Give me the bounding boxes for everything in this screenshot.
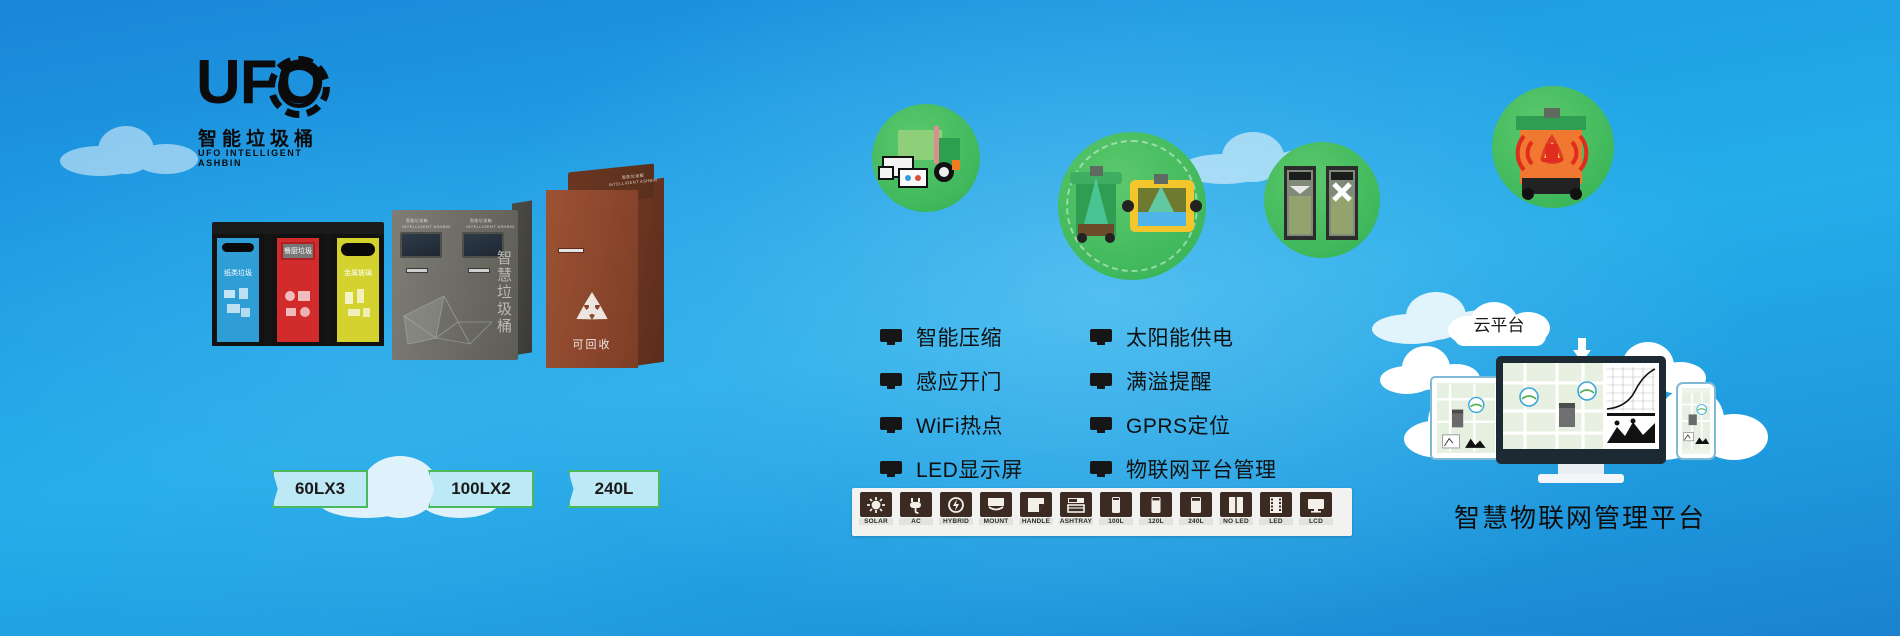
feature-label: LED显示屏 bbox=[916, 454, 1023, 484]
logo-english: UFO INTELLIGENT ASHBIN bbox=[198, 148, 346, 168]
feature-item: 感应开门 bbox=[880, 366, 1023, 396]
spec-icon-hybrid: HYBRID bbox=[938, 492, 974, 532]
logo-chinese: 智能垃圾桶 bbox=[198, 124, 318, 151]
bin-panel-caption-en: INTELLIGENT ASHBIN bbox=[402, 224, 451, 229]
bin-cell-kitchen: 餐厨垃圾 bbox=[272, 234, 324, 346]
feature-circle-fleet-monitoring bbox=[872, 104, 980, 212]
bin-panel: 纸类垃圾 bbox=[217, 238, 259, 342]
spec-icon-led: LED bbox=[1258, 492, 1294, 532]
spec-caption: 240L bbox=[1179, 518, 1213, 525]
monitor-bullet-icon bbox=[1090, 373, 1112, 389]
capacity-label: 100LX2 bbox=[451, 479, 511, 499]
spec-icon-100l: 100L bbox=[1098, 492, 1134, 532]
spec-icon-solar: SOLAR bbox=[858, 492, 894, 532]
spec-icon-ashtray: ASHTRAY bbox=[1058, 492, 1094, 532]
waste-category-icon bbox=[341, 284, 375, 324]
bin-cell-label: 金属玻璃 bbox=[337, 268, 379, 278]
monitor-bullet-icon bbox=[880, 461, 902, 477]
spec-icon-240l: 240L bbox=[1178, 492, 1214, 532]
spec-caption: HYBRID bbox=[939, 518, 973, 525]
bin-opening bbox=[222, 243, 254, 252]
bin-opening bbox=[341, 243, 375, 256]
monitor-base bbox=[1538, 474, 1624, 483]
no-led-icon bbox=[1226, 495, 1246, 515]
feature-item: 物联网平台管理 bbox=[1090, 454, 1277, 484]
led-icon bbox=[1266, 495, 1286, 515]
platform-caption: 智慧物联网管理平台 bbox=[1420, 498, 1740, 535]
triple-sorting-bin: 纸类垃圾 餐厨垃圾 bbox=[212, 222, 384, 352]
monitor-bullet-icon bbox=[1090, 417, 1112, 433]
hybrid-power-icon bbox=[946, 496, 966, 514]
bin-cell-label: 纸类垃圾 bbox=[217, 268, 259, 278]
bin-cell-paper: 纸类垃圾 bbox=[212, 234, 264, 346]
monitor-bullet-icon bbox=[880, 417, 902, 433]
spec-icon-no-led: NO LED bbox=[1218, 492, 1254, 532]
sun-icon bbox=[866, 496, 886, 514]
plug-icon bbox=[906, 496, 926, 514]
bin-120l-icon bbox=[1148, 495, 1164, 515]
monitor-screen bbox=[1503, 363, 1659, 449]
feature-item: 满溢提醒 bbox=[1090, 366, 1277, 396]
feature-label: 满溢提醒 bbox=[1126, 366, 1212, 396]
tablet-device bbox=[1430, 376, 1502, 460]
bin-body: 可回收 bbox=[546, 190, 638, 368]
feature-item: 智能压缩 bbox=[880, 322, 1023, 352]
feature-item: GPRS定位 bbox=[1090, 410, 1277, 440]
spec-icon-mount: MOUNT bbox=[978, 492, 1014, 532]
feature-label: 物联网平台管理 bbox=[1126, 454, 1277, 484]
spec-caption: HANDLE bbox=[1019, 518, 1053, 525]
fleet-monitoring-icon bbox=[872, 104, 980, 212]
bin-panel: 餐厨垃圾 bbox=[277, 238, 319, 342]
bin-label: 可回收 bbox=[546, 336, 638, 352]
spec-caption: LED bbox=[1259, 518, 1293, 525]
waste-category-icon bbox=[221, 284, 255, 324]
fill-level-sensor-icon bbox=[1058, 132, 1206, 280]
gear-ring-inner-icon bbox=[278, 66, 320, 108]
feature-label: 感应开门 bbox=[916, 366, 1002, 396]
spec-icon-120l: 120L bbox=[1138, 492, 1174, 532]
spec-icon-handle: HANDLE bbox=[1018, 492, 1054, 532]
feature-circle-fill-level bbox=[1058, 132, 1206, 280]
bin-cell-metal-glass: 金属玻璃 bbox=[332, 234, 384, 346]
cloud-decoration bbox=[60, 120, 210, 180]
monitor-bullet-icon bbox=[1090, 329, 1112, 345]
cloud-platform-label: 云平台 bbox=[1448, 300, 1550, 346]
spec-caption: NO LED bbox=[1219, 518, 1253, 525]
iot-dashboard-illustration bbox=[1430, 348, 1730, 488]
banner-canvas: UFO 智能垃圾桶 UFO INTELLIGENT ASHBIN 纸类垃圾 bbox=[0, 0, 1900, 636]
monitor-bullet-icon bbox=[880, 329, 902, 345]
mount-icon bbox=[985, 496, 1007, 514]
bin-panel: 金属玻璃 bbox=[337, 238, 379, 342]
capacity-ribbon-100l: 100LX2 bbox=[428, 470, 534, 508]
feature-column-left: 智能压缩 感应开门 WiFi热点 LED显示屏 bbox=[880, 322, 1023, 498]
feature-label: 智能压缩 bbox=[916, 322, 1002, 352]
capacity-label: 240L bbox=[595, 479, 634, 499]
spec-caption: 120L bbox=[1139, 518, 1173, 525]
capacity-ribbon-240l: 240L bbox=[568, 470, 660, 508]
ashtray-icon bbox=[1065, 496, 1087, 514]
spec-icon-strip: SOLAR AC HYBRID MOUNT HANDLE ASHTRAY 100… bbox=[852, 488, 1352, 536]
bin-card-slot bbox=[468, 268, 490, 273]
feature-label: GPRS定位 bbox=[1126, 410, 1231, 440]
bin-display-screen bbox=[400, 232, 442, 258]
handle-icon bbox=[1025, 496, 1047, 514]
bin-cell-label: 餐厨垃圾 bbox=[277, 246, 319, 256]
bin-divider bbox=[264, 234, 272, 346]
cloud-platform-text: 云平台 bbox=[1448, 311, 1550, 336]
feature-item: LED显示屏 bbox=[880, 454, 1023, 484]
spec-caption: LCD bbox=[1299, 518, 1333, 525]
bin-card-slot bbox=[558, 248, 584, 253]
waste-category-icon bbox=[281, 284, 315, 324]
brown-recycle-bin: 智能垃圾箱INTELLIGENT ASHBIN 可回收 bbox=[546, 168, 664, 368]
feature-item: WiFi热点 bbox=[880, 410, 1023, 440]
capacity-ribbon-60l: 60LX3 bbox=[272, 470, 368, 508]
capacity-label: 60LX3 bbox=[295, 479, 345, 499]
monitor-bullet-icon bbox=[1090, 461, 1112, 477]
spec-caption: 100L bbox=[1099, 518, 1133, 525]
bin-card-slot bbox=[406, 268, 428, 273]
desktop-monitor bbox=[1496, 356, 1666, 464]
bin-240l-icon bbox=[1188, 495, 1204, 515]
feature-label: 太阳能供电 bbox=[1126, 322, 1234, 352]
bin-panel-caption-en: INTELLIGENT ASHBIN bbox=[466, 224, 515, 229]
phone-screen bbox=[1682, 388, 1710, 454]
spec-icon-lcd: LCD bbox=[1298, 492, 1334, 532]
feature-circle-fire-alarm bbox=[1492, 86, 1614, 208]
feature-item: 太阳能供电 bbox=[1090, 322, 1277, 352]
feature-circle-compaction bbox=[1264, 142, 1380, 258]
spec-icon-ac: AC bbox=[898, 492, 934, 532]
recycle-icon bbox=[570, 290, 614, 330]
fire-alarm-icon bbox=[1492, 86, 1614, 208]
dual-smart-bin: 智能垃圾箱 INTELLIGENT ASHBIN 智能垃圾箱 INTELLIGE… bbox=[392, 200, 532, 360]
ufo-logo: UFO 智能垃圾桶 UFO INTELLIGENT ASHBIN bbox=[196, 52, 346, 164]
bin-divider bbox=[324, 234, 332, 346]
compaction-icon bbox=[1264, 142, 1380, 258]
bin-100l-icon bbox=[1108, 495, 1124, 515]
spec-caption: ASHTRAY bbox=[1059, 518, 1093, 525]
tablet-screen bbox=[1437, 383, 1495, 453]
spec-caption: SOLAR bbox=[859, 518, 893, 525]
smartphone-device bbox=[1676, 382, 1716, 460]
lcd-icon bbox=[1305, 496, 1327, 514]
bin-body: 智能垃圾箱 INTELLIGENT ASHBIN 智能垃圾箱 INTELLIGE… bbox=[392, 210, 518, 360]
bin-top-rail bbox=[212, 222, 384, 234]
polygon-graphic bbox=[396, 282, 506, 356]
spec-caption: AC bbox=[899, 518, 933, 525]
monitor-bullet-icon bbox=[880, 373, 902, 389]
spec-caption: MOUNT bbox=[979, 518, 1013, 525]
feature-label: WiFi热点 bbox=[916, 410, 1003, 440]
feature-column-right: 太阳能供电 满溢提醒 GPRS定位 物联网平台管理 bbox=[1090, 322, 1277, 498]
